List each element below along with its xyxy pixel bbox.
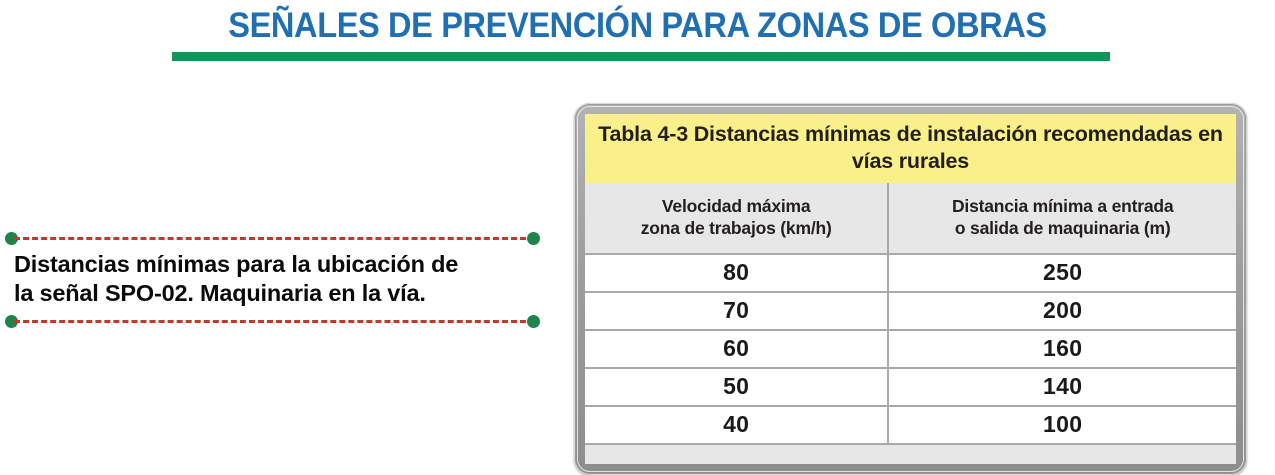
column-header-distance-line-2: o salida de maquinaria (m) — [893, 217, 1232, 239]
guide-line-bottom — [0, 311, 552, 332]
column-header-distance: Distancia mínima a entrada o salida de m… — [888, 183, 1236, 254]
table-footer-strip — [585, 445, 1236, 464]
table-row: 50 140 — [585, 368, 1236, 406]
column-header-speed-line-1: Velocidad máxima — [589, 195, 883, 217]
cell-distance: 160 — [888, 330, 1236, 368]
column-header-speed: Velocidad máxima zona de trabajos (km/h) — [585, 183, 888, 254]
table-frame: Tabla 4-3 Distancias mínimas de instalac… — [574, 103, 1247, 475]
page-title: SEÑALES DE PREVENCIÓN PARA ZONAS DE OBRA… — [45, 6, 1231, 46]
caption-annotation-block: Distancias mínimas para la ubicación de … — [0, 228, 552, 332]
distances-table: Tabla 4-3 Distancias mínimas de instalac… — [585, 114, 1236, 445]
table-row: 70 200 — [585, 292, 1236, 330]
cell-speed: 50 — [585, 368, 888, 406]
cell-speed: 40 — [585, 406, 888, 444]
table-caption-row: Tabla 4-3 Distancias mínimas de instalac… — [585, 114, 1236, 183]
guide-dot-bottom-right — [527, 315, 540, 328]
table-row: 80 250 — [585, 254, 1236, 292]
cell-distance: 200 — [888, 292, 1236, 330]
table-row: 60 160 — [585, 330, 1236, 368]
guide-line-top — [0, 228, 552, 249]
cell-speed: 80 — [585, 254, 888, 292]
dashed-line-top — [14, 237, 526, 240]
cell-distance: 100 — [888, 406, 1236, 444]
page-header: SEÑALES DE PREVENCIÓN PARA ZONAS DE OBRA… — [0, 6, 1275, 46]
cell-distance: 250 — [888, 254, 1236, 292]
table-row: 40 100 — [585, 406, 1236, 444]
cell-speed: 60 — [585, 330, 888, 368]
column-header-distance-line-1: Distancia mínima a entrada — [893, 195, 1232, 217]
column-header-speed-line-2: zona de trabajos (km/h) — [589, 217, 883, 239]
cell-distance: 140 — [888, 368, 1236, 406]
title-underline-rule — [172, 52, 1110, 61]
cell-speed: 70 — [585, 292, 888, 330]
table-caption: Tabla 4-3 Distancias mínimas de instalac… — [585, 114, 1236, 183]
table-caption-line-1: Tabla 4-3 Distancias mínimas de instalac… — [598, 122, 1037, 146]
dashed-line-bottom — [14, 320, 526, 323]
caption-line-2: la señal SPO-02. Maquinaria en la vía. — [14, 279, 542, 308]
table-container: Tabla 4-3 Distancias mínimas de instalac… — [585, 114, 1236, 464]
caption-text: Distancias mínimas para la ubicación de … — [14, 250, 542, 308]
caption-line-1: Distancias mínimas para la ubicación de — [14, 250, 542, 279]
guide-dot-top-right — [527, 232, 540, 245]
table-header-row: Velocidad máxima zona de trabajos (km/h)… — [585, 183, 1236, 254]
